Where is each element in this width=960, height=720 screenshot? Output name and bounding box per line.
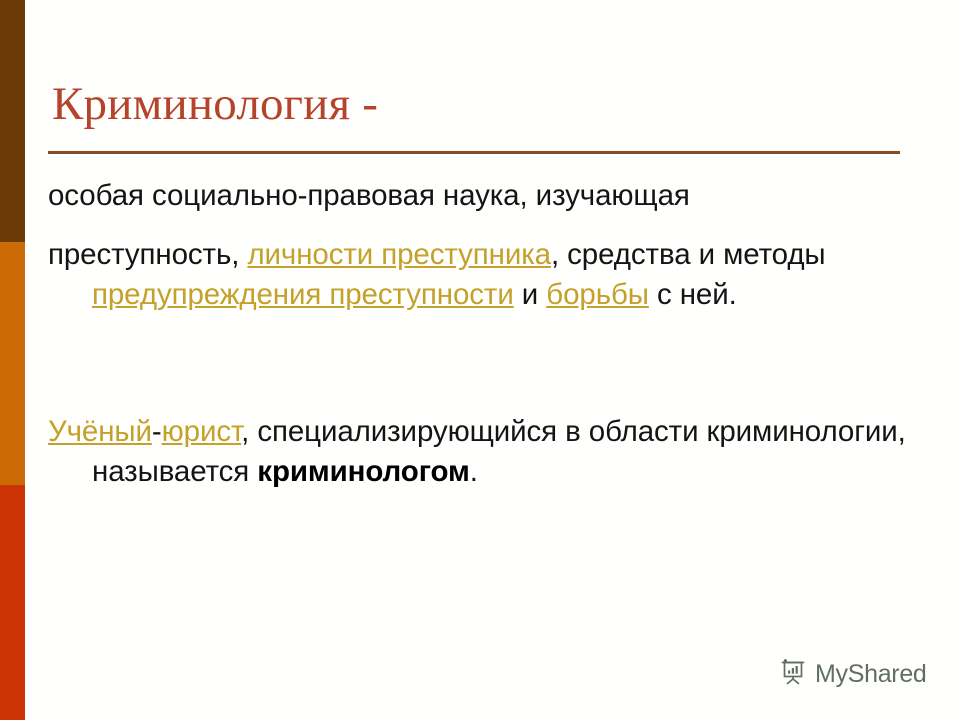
watermark-label: MyShared [815, 660, 927, 689]
accent-band-red-orange [0, 485, 25, 720]
slide-canvas: Криминология - особая социально-правовая… [0, 0, 960, 720]
paragraph-definition: особая социально-правовая наука, изучающ… [48, 176, 926, 216]
paragraph-run: преступность, личности преступника, сред… [48, 238, 826, 311]
left-accent-bar [0, 0, 25, 720]
body-link[interactable]: личности преступника [247, 238, 551, 271]
body-link[interactable]: юрист [162, 415, 242, 448]
body-bold-term: криминологом [257, 455, 470, 488]
body-link[interactable]: борьбы [546, 278, 649, 311]
myshared-watermark: MyShared [778, 657, 927, 692]
accent-band-dark-brown [0, 0, 25, 242]
body-text: . [470, 455, 478, 488]
body-link[interactable]: Учёный [48, 415, 152, 448]
flipchart-presentation-icon [778, 657, 808, 692]
body-text: особая социально-правовая наука, изучающ… [48, 179, 690, 212]
body-text: - [152, 415, 162, 448]
paragraph-run: Учёный-юрист, специализирующийся в облас… [48, 415, 906, 488]
accent-band-orange [0, 242, 25, 485]
body-link[interactable]: предупреждения преступности [92, 278, 514, 311]
paragraph-run: особая социально-правовая наука, изучающ… [48, 179, 690, 212]
title-underline-rule [48, 151, 900, 154]
body-text: с ней. [649, 278, 737, 311]
slide-body: особая социально-правовая наука, изучающ… [48, 176, 926, 492]
body-text: и [514, 278, 547, 311]
paragraph-criminologist: Учёный-юрист, специализирующийся в облас… [48, 412, 926, 492]
slide-title: Криминология - [52, 76, 912, 132]
body-text: , средства и методы [551, 238, 826, 271]
paragraph-subject-matter: преступность, личности преступника, сред… [48, 235, 926, 315]
body-text: преступность, [48, 238, 247, 271]
